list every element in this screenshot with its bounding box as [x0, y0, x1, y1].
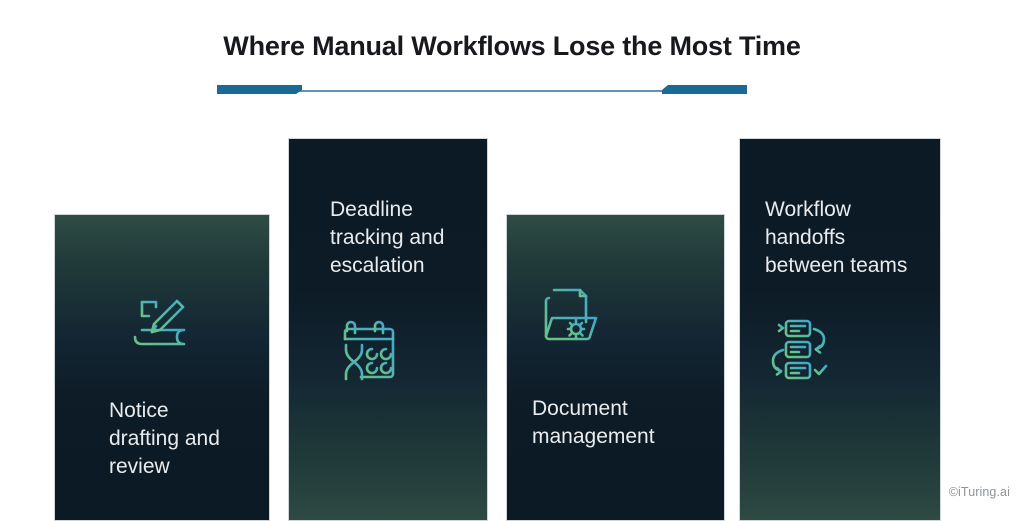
card-label: Document management	[532, 395, 702, 451]
card-label: Workflow handoffs between teams	[765, 196, 918, 280]
card-label: Deadline tracking and escalation	[330, 196, 465, 280]
workflow-steps-icon	[764, 312, 838, 386]
card-label: Notice drafting and review	[109, 397, 247, 481]
card-notice-drafting[interactable]: Notice drafting and review	[54, 214, 270, 521]
card-workflow-handoffs[interactable]: Workflow handoffs between teams	[739, 138, 941, 521]
card-deadline-tracking[interactable]: Deadline tracking and escalation	[288, 138, 488, 521]
card-content: Workflow handoffs between teams	[740, 139, 940, 520]
folder-gear-icon	[530, 278, 604, 352]
card-content: Document management	[507, 215, 724, 520]
card-content: Notice drafting and review	[55, 215, 269, 520]
hourglass-calendar-icon	[331, 314, 405, 388]
watermark: ©iTuring.ai	[949, 485, 1010, 499]
cards-row: Notice drafting and review Deadline trac…	[0, 0, 1024, 521]
scroll-pencil-icon	[123, 281, 197, 355]
card-document-management[interactable]: Document management	[506, 214, 725, 521]
card-content: Deadline tracking and escalation	[289, 139, 487, 520]
